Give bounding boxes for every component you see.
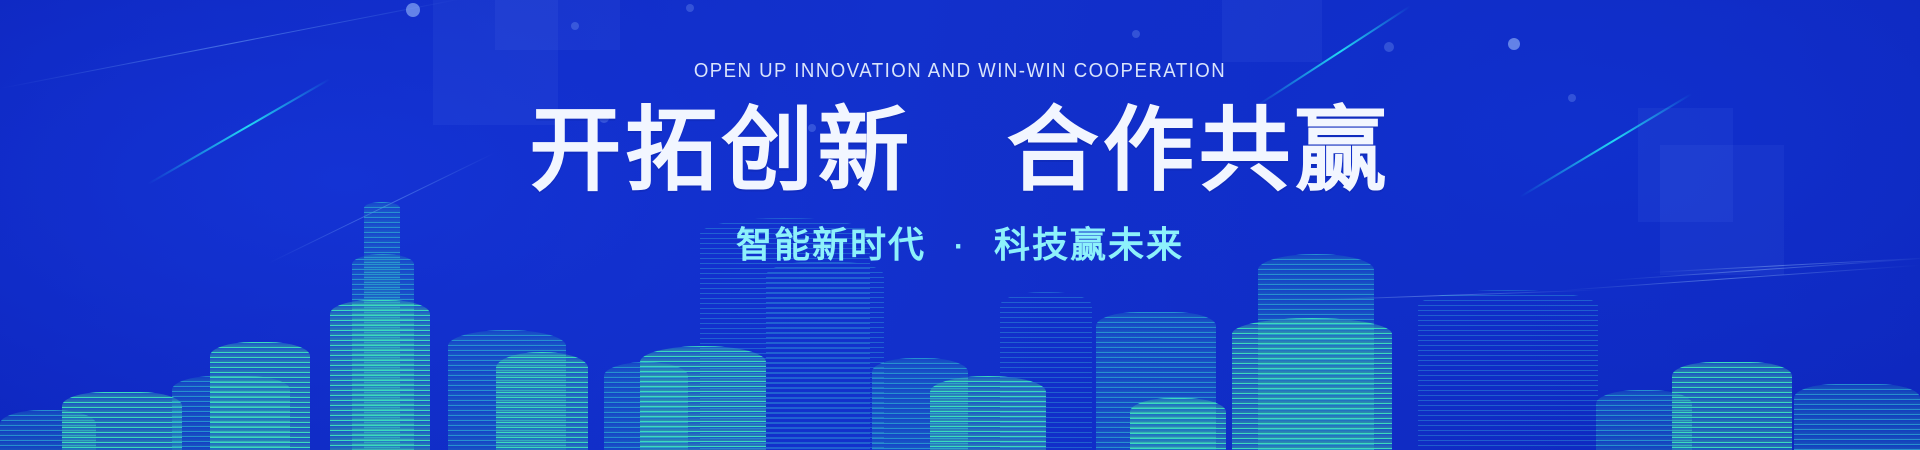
hero-banner: OPEN UP INNOVATION AND WIN-WIN COOPERATI…	[0, 0, 1920, 450]
tower-slim-base	[330, 300, 430, 450]
tower-right-edgeB	[1672, 362, 1792, 450]
banner-content: OPEN UP INNOVATION AND WIN-WIN COOPERATI…	[0, 0, 1920, 263]
tower-center-cyl	[766, 262, 884, 450]
tower-right-edgeC	[1794, 384, 1920, 450]
tower-center-boxB	[496, 352, 588, 450]
banner-eyebrow-text: OPEN UP INNOVATION AND WIN-WIN COOPERATI…	[67, 60, 1853, 83]
tower-left-mid	[210, 342, 310, 450]
tower-right-faint	[1418, 290, 1598, 450]
tower-right-boxB	[1232, 318, 1392, 450]
tower-far-left-b	[62, 392, 182, 450]
headline-part-left: 开拓创新	[529, 100, 913, 202]
tower-right-low	[1130, 398, 1226, 450]
banner-subline: 智能新时代 · 科技赢未来	[0, 227, 1920, 263]
subline-part-left: 智能新时代	[736, 224, 926, 265]
subline-separator-dot: ·	[954, 232, 966, 262]
banner-headline: 开拓创新 合作共赢	[0, 105, 1920, 197]
headline-part-right: 合作共赢	[1007, 100, 1391, 202]
subline-part-right: 科技赢未来	[994, 224, 1184, 265]
tower-tall-faint	[1000, 292, 1092, 450]
